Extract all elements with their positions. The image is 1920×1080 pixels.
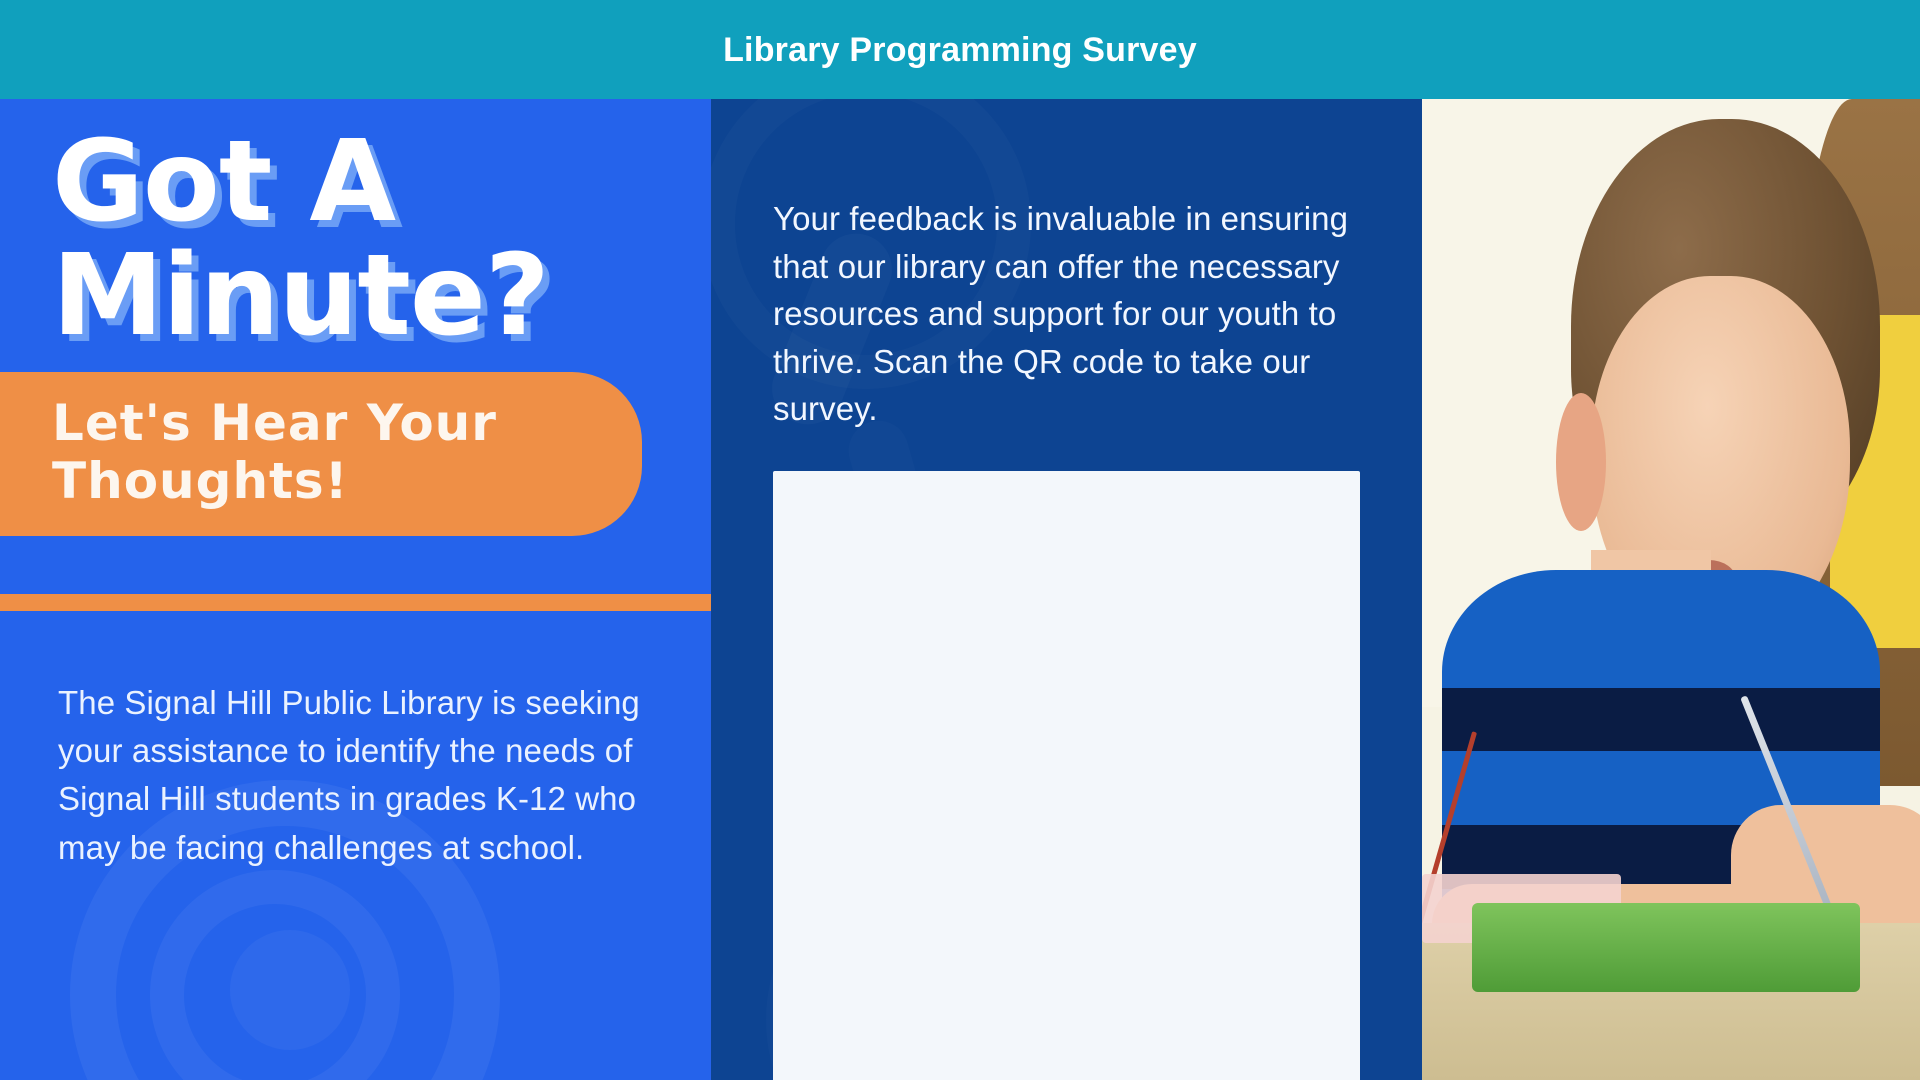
poster-body: Got A Minute? Let's Hear Your Thoughts! … [0,99,1920,1080]
middle-panel: Your feedback is invaluable in ensuring … [711,99,1422,1080]
photo-boy-ear [1556,393,1606,530]
dot-watermark-icon [230,930,350,1050]
headline-line-2: Minute? [52,243,711,351]
photo-shirt-stripe-1 [1442,688,1880,752]
photo-green-notebook [1472,903,1860,991]
survey-poster: Library Programming Survey Got A Minute?… [0,0,1920,1080]
page-header: Library Programming Survey [0,0,1920,99]
left-paragraph: The Signal Hill Public Library is seekin… [58,679,653,872]
left-panel: Got A Minute? Let's Hear Your Thoughts! … [0,99,711,1080]
right-photo-panel [1422,99,1920,1080]
page-title: Library Programming Survey [723,33,1197,67]
headline-line-1: Got A [52,129,711,237]
middle-paragraph: Your feedback is invaluable in ensuring … [773,195,1360,433]
orange-divider [0,594,711,611]
student-writing-photo [1422,99,1920,1080]
circle-watermark-inner-icon [150,870,400,1080]
divider-middle [773,471,1360,1080]
headline: Got A Minute? [0,99,711,350]
subheadline-line-1: Let's Hear Your [52,394,602,452]
subheadline-pill: Let's Hear Your Thoughts! [0,372,642,536]
subheadline-line-2: Thoughts! [52,452,602,510]
